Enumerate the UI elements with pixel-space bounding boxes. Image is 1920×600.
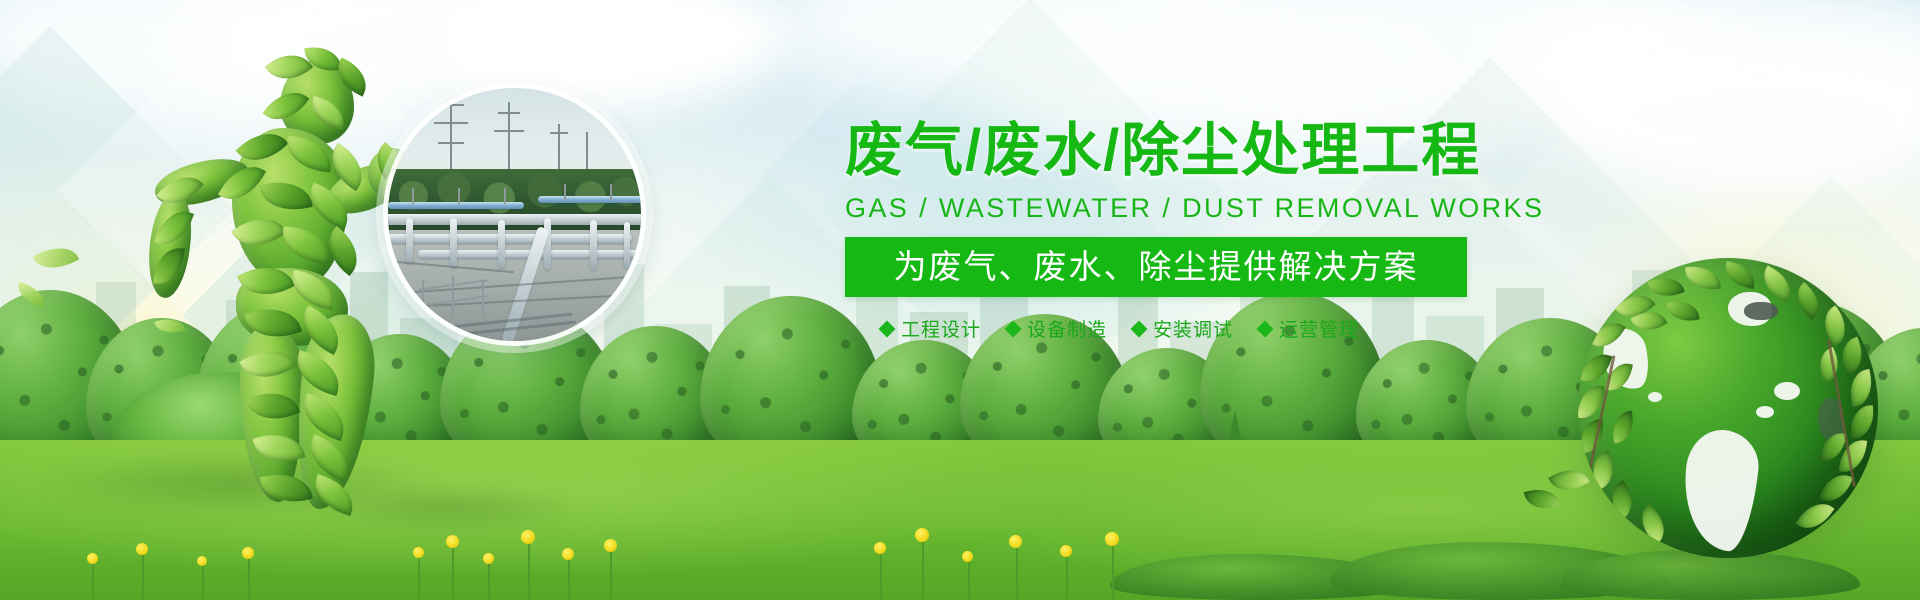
flower-clump [400,526,660,600]
pipe-support [406,218,413,264]
diamond-bullet-icon [1005,320,1022,337]
feature-item-manufacturing[interactable]: 设备制造 [1007,315,1107,342]
flower-clump [70,540,290,600]
continent-islands [1774,382,1800,400]
hero-banner: 废气/废水/除尘处理工程 GAS / WASTEWATER / DUST REM… [0,0,1920,600]
wastewater-plant-photo [383,83,646,346]
leaf-vine [1846,369,1877,407]
pylon-arm [494,130,524,132]
leaf-vine [1849,405,1875,439]
diamond-bullet-icon [1131,320,1148,337]
railing-post [412,188,414,204]
leaf-man-figure [120,56,420,526]
feature-label: 工程设计 [901,315,981,342]
continent-islands [1648,392,1662,402]
page-title: 废气/废水/除尘处理工程 [845,122,1485,180]
handrail [422,280,424,316]
blue-railing [538,196,646,203]
continent-arctic-shadow [1744,302,1778,320]
feature-item-installation[interactable]: 安装调试 [1133,315,1233,342]
green-earth-globe [1578,258,1878,558]
continent-islands [1756,406,1774,418]
handrail [482,280,484,316]
subtitle-english: GAS / WASTEWATER / DUST REMOVAL WORKS [845,193,1485,224]
process-pipe [383,214,646,225]
pipe-support [590,220,597,270]
pipe-support [624,222,630,268]
diamond-bullet-icon [1257,320,1274,337]
feature-item-operations[interactable]: 运营管理 [1259,315,1359,342]
pylon-arm [498,112,520,114]
pipe-support [498,220,505,268]
pylon-arm [550,132,568,134]
diamond-bullet-icon [879,320,896,337]
feature-label: 设备制造 [1027,315,1107,342]
feature-label: 运营管理 [1279,315,1359,342]
pipe-support [450,218,457,268]
leaf-vine [1610,411,1636,444]
pylon-arm [438,104,464,106]
flower-clump [860,522,1160,600]
leafman-forearm-back [143,190,197,301]
leaf-vine [1666,298,1699,325]
feature-list: 工程设计 设备制造 安装调试 运营管理 [845,315,1485,342]
railing-post [564,184,566,200]
promo-bar: 为废气、废水、除尘提供解决方案 [845,237,1467,297]
leaf-vine [1685,265,1721,291]
feature-label: 安装调试 [1153,315,1233,342]
banner-text-block: 废气/废水/除尘处理工程 GAS / WASTEWATER / DUST REM… [845,122,1485,342]
feature-item-design[interactable]: 工程设计 [881,315,981,342]
railing-post [504,188,506,204]
pylon-arm [434,122,468,124]
railing-post [458,188,460,204]
leaf-vine [1722,261,1758,289]
handrail [452,276,454,316]
power-pylon [450,94,452,178]
continent-south-america [1678,427,1762,554]
floating-leaf [154,315,185,337]
pylon-arm [438,142,464,144]
railing-post [610,184,612,200]
